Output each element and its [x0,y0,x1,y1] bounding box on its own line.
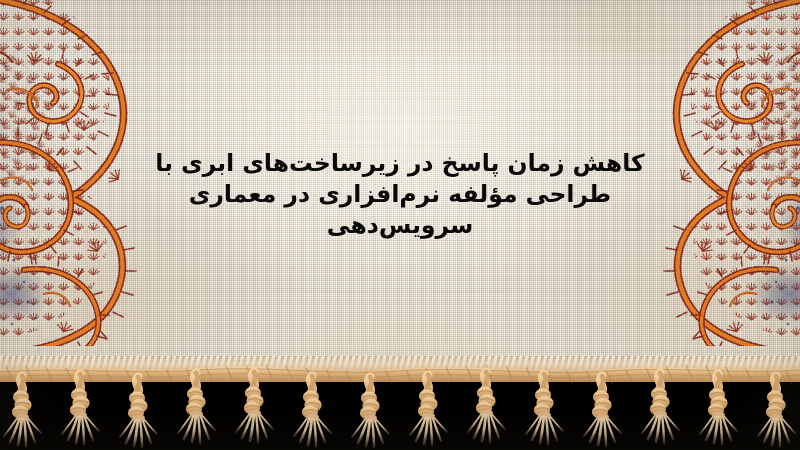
slide-canvas: کاهش زمان پاسخ در زیرساخت‌های ابری با طر… [0,0,800,450]
slide-title: کاهش زمان پاسخ در زیرساخت‌های ابری با طر… [100,148,700,241]
title-line-1: کاهش زمان پاسخ در زیرساخت‌های ابری با [100,148,700,179]
title-line-3: سرویس‌دهی [100,210,700,241]
title-line-2: طراحی مؤلفه نرم‌افزاری در معماری [100,179,700,210]
tassel-fringe [0,360,800,450]
